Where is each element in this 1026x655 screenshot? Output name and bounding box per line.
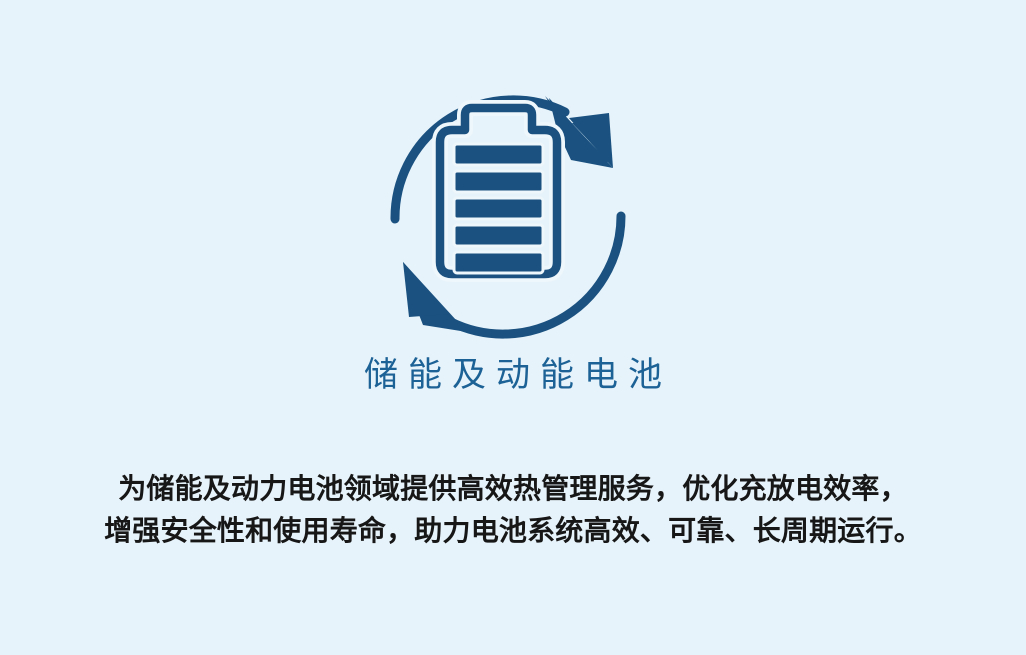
page-title: 储能及动能电池 <box>0 352 1026 398</box>
description-line-2: 增强安全性和使用寿命，助力电池系统高效、可靠、长周期运行。 <box>0 510 1026 552</box>
description-line-1: 为储能及动力电池领域提供高效热管理服务，优化充放电效率， <box>0 468 1026 510</box>
battery-recycle-icon <box>373 82 653 347</box>
battery-feature-card: 储能及动能电池 为储能及动力电池领域提供高效热管理服务，优化充放电效率， 增强安… <box>0 0 1026 655</box>
description-block: 为储能及动力电池领域提供高效热管理服务，优化充放电效率， 增强安全性和使用寿命，… <box>0 468 1026 552</box>
